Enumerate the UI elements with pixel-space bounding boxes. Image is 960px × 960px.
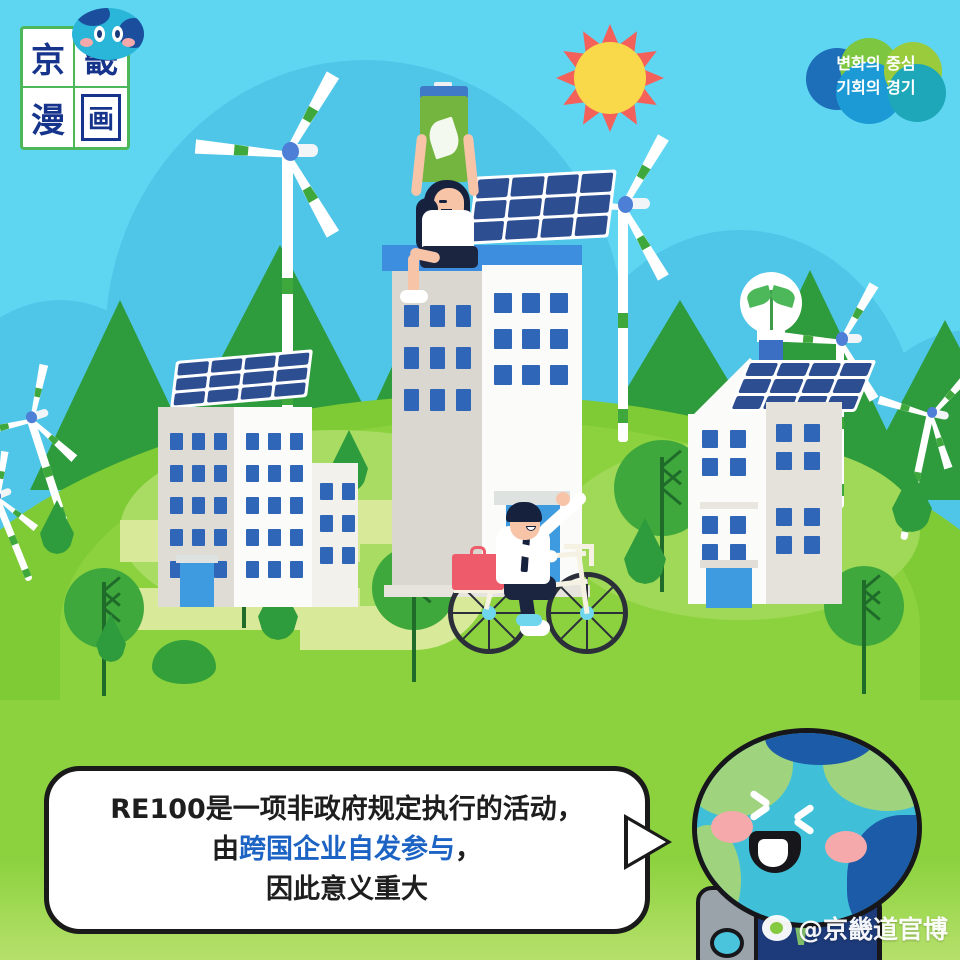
mascot-eye-right — [793, 809, 827, 835]
building-window — [702, 458, 718, 476]
building-window — [214, 561, 227, 578]
turbine-hub — [836, 332, 848, 346]
building-window — [776, 536, 792, 554]
building-window — [214, 433, 227, 450]
building-window — [494, 329, 512, 349]
building-window — [522, 329, 540, 349]
building-left — [158, 355, 358, 610]
logo-char-4: 画 — [81, 94, 121, 141]
logo-mascot-pupil-right — [115, 30, 120, 38]
badge-text: 변화의 중심 기회의 경기 — [806, 52, 946, 100]
house-door-lintel — [700, 560, 758, 568]
bubble-line-1: RE100是一项非政府规定执行的活动， — [110, 790, 584, 830]
building-window — [804, 424, 820, 442]
building-window — [192, 497, 205, 514]
building-window — [170, 433, 183, 450]
woman-shoe — [400, 290, 428, 303]
building-window — [342, 515, 355, 532]
briefcase-handle — [470, 546, 486, 556]
building-window — [776, 452, 792, 470]
building-window — [246, 465, 259, 482]
cyclist-businessman — [438, 492, 638, 662]
bubble-line-2-prefix: 由 — [212, 834, 239, 865]
logo-mascot-pupil-left — [97, 30, 102, 38]
turbine-tower-band — [618, 409, 628, 423]
building-window — [290, 433, 303, 450]
building-window — [430, 305, 445, 327]
logo-mascot-blush-right — [122, 38, 135, 47]
building-window — [246, 529, 259, 546]
building-window — [456, 305, 471, 327]
turbine-blade-band — [233, 141, 249, 159]
cyclist-pedal — [516, 614, 542, 626]
badge-line-2: 기회의 경기 — [806, 76, 946, 100]
building-window — [214, 465, 227, 482]
cyclist-hand — [556, 492, 570, 506]
house-door[interactable] — [706, 568, 752, 608]
green-battery-icon — [420, 96, 468, 182]
building-window — [730, 430, 746, 448]
mascot-hand — [710, 928, 744, 958]
woman-arm-right — [463, 134, 479, 197]
building-window — [342, 547, 355, 564]
building-left-lintel — [176, 555, 218, 563]
building-window — [456, 347, 471, 369]
wind-turbine-center — [618, 182, 628, 442]
cyclist-eye — [526, 518, 533, 521]
building-window — [268, 497, 281, 514]
building-window — [268, 529, 281, 546]
solar-panel-array-left — [170, 349, 313, 409]
building-window — [430, 347, 445, 369]
bubble-line-2-suffix: ， — [455, 834, 482, 865]
bicycle-handlebar-stem — [589, 544, 594, 566]
building-window — [268, 433, 281, 450]
building-window — [804, 508, 820, 526]
building-window — [494, 293, 512, 313]
mascot-head — [692, 728, 922, 928]
gyeonggi-slogan-badge[interactable]: 변화의 중심 기회의 경기 — [806, 38, 946, 124]
cyclist-hair — [506, 502, 542, 522]
bubble-line-3: 因此意义重大 — [266, 870, 428, 910]
turbine-hub — [618, 196, 633, 213]
building-window — [214, 497, 227, 514]
logo-mascot-head-icon — [72, 8, 144, 60]
building-window — [776, 424, 792, 442]
turbine-blade-band — [0, 421, 10, 433]
mascot-blush-right — [825, 831, 867, 863]
building-window — [246, 433, 259, 450]
building-window — [404, 347, 419, 369]
building-window — [170, 497, 183, 514]
turbine-tower-band — [282, 278, 293, 294]
badge-line-1: 변화의 중심 — [806, 52, 946, 76]
building-window — [320, 547, 333, 564]
building-window — [290, 561, 303, 578]
turbine-blade-band — [0, 471, 6, 480]
battery-leaf-icon — [425, 117, 463, 160]
weibo-watermark: @京畿道官博 — [762, 910, 948, 946]
building-window — [494, 365, 512, 385]
building-window — [776, 508, 792, 526]
building-window — [550, 329, 568, 349]
sun-core — [574, 42, 646, 114]
speech-bubble-tail — [628, 820, 666, 864]
bubble-line-2-highlight: 跨国企业自发参与 — [239, 834, 455, 865]
building-window — [522, 293, 540, 313]
illustration-canvas: RE100是一项非政府规定执行的活动， 由跨国企业自发参与， 因此意义重大 — [0, 0, 960, 960]
turbine-tower-band — [618, 313, 628, 327]
sun-icon — [556, 24, 664, 132]
woman-eye — [439, 200, 447, 203]
building-window — [290, 497, 303, 514]
building-window — [320, 483, 333, 500]
building-window — [522, 365, 540, 385]
building-window — [404, 305, 419, 327]
mascot-blush-left — [711, 811, 753, 843]
weibo-handle: @京畿道官博 — [798, 910, 948, 946]
building-right-house — [680, 352, 872, 614]
building-window — [320, 515, 333, 532]
building-window — [430, 389, 445, 411]
building-window — [550, 365, 568, 385]
building-window — [404, 389, 419, 411]
building-left-door[interactable] — [180, 563, 214, 607]
building-window — [702, 430, 718, 448]
building-window — [550, 293, 568, 313]
bubble-line-2: 由跨国企业自发参与， — [212, 830, 482, 870]
mascot-tongue — [758, 839, 788, 867]
speech-bubble: RE100是一项非政府规定执行的活动， 由跨国企业自发参与， 因此意义重大 — [44, 766, 650, 934]
building-window — [192, 433, 205, 450]
mascot-mouth — [749, 831, 801, 873]
building-window — [192, 529, 205, 546]
mascot-eye-left — [749, 795, 783, 821]
logo-mascot-cap — [76, 8, 110, 26]
building-window — [342, 483, 355, 500]
building-window — [246, 497, 259, 514]
building-window — [290, 529, 303, 546]
woman-on-rooftop — [398, 82, 518, 272]
logo-char-3: 漫 — [23, 88, 75, 147]
weibo-eye-icon — [762, 915, 792, 941]
building-window — [804, 452, 820, 470]
building-window — [730, 516, 746, 534]
building-window — [192, 465, 205, 482]
logo-char-1: 京 — [23, 29, 75, 88]
building-window — [290, 465, 303, 482]
logo-mascot-blush-left — [80, 38, 93, 47]
building-window — [214, 529, 227, 546]
building-window — [268, 465, 281, 482]
turbine-hub — [282, 142, 299, 161]
building-window — [804, 536, 820, 554]
building-window — [730, 458, 746, 476]
house-band-mid — [700, 502, 758, 509]
building-window — [246, 561, 259, 578]
building-window — [456, 389, 471, 411]
building-window — [702, 516, 718, 534]
building-window — [268, 561, 281, 578]
building-window — [170, 529, 183, 546]
building-window — [170, 465, 183, 482]
